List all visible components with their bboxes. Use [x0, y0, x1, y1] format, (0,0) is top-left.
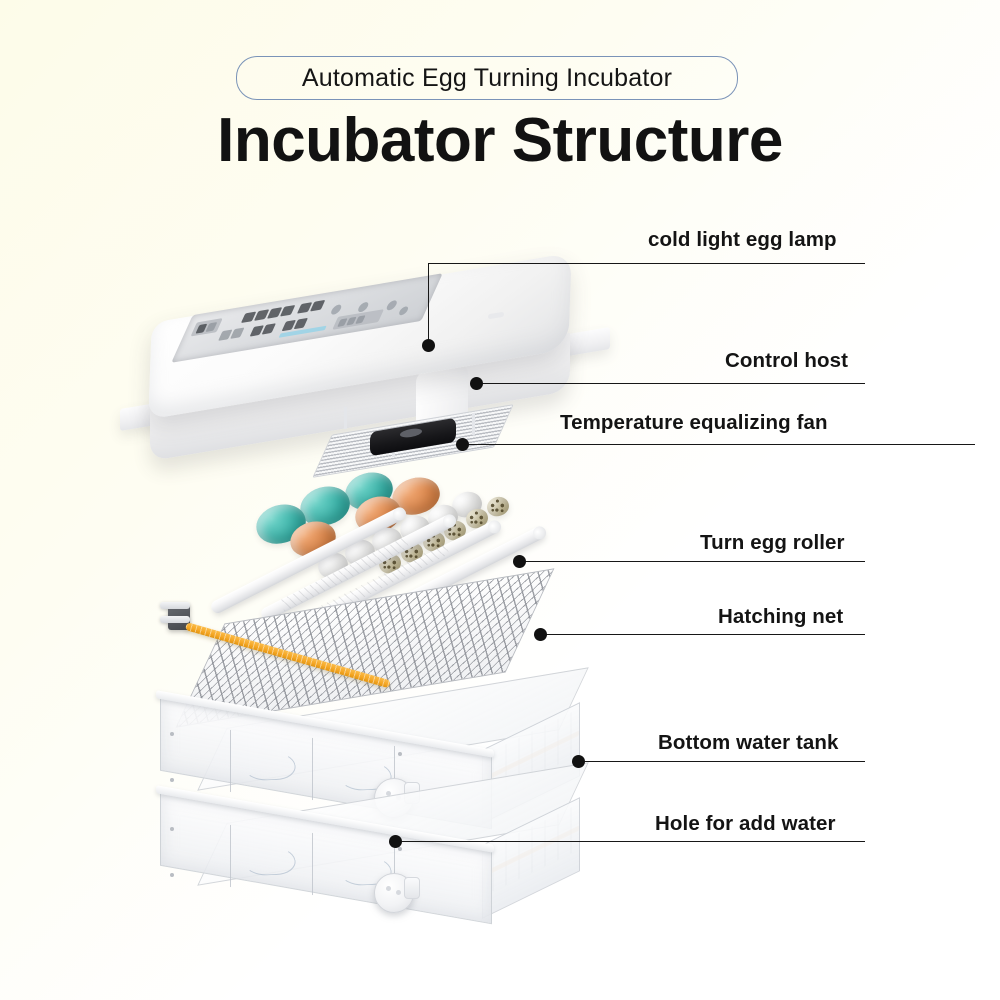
tank-screw: [398, 752, 402, 756]
callout-label-turn-egg-roller: Turn egg roller: [700, 531, 845, 555]
leader-line-horizontal: [519, 561, 865, 562]
panel-button[interactable]: [398, 306, 410, 316]
panel-button[interactable]: [385, 300, 398, 311]
leader-line-horizontal: [476, 383, 865, 384]
leader-line-horizontal: [578, 761, 865, 762]
leader-dot: [389, 835, 402, 848]
callout-label-bottom-water-tank: Bottom water tank: [658, 731, 839, 755]
water-fill-nub: [404, 877, 420, 899]
tank-divider: [312, 833, 313, 895]
panel-digit: [282, 320, 296, 331]
leader-line-vertical: [428, 263, 429, 345]
infographic-canvas: Automatic Egg Turning Incubator Incubato…: [0, 0, 1000, 1000]
leader-line-horizontal: [395, 841, 865, 842]
callout-label-hatching-net: Hatching net: [718, 605, 843, 629]
fan-leg: [472, 413, 475, 436]
panel-button[interactable]: [330, 304, 343, 315]
panel-digit: [241, 311, 256, 323]
callout-label-cold-light-egg-lamp: cold light egg lamp: [648, 228, 837, 252]
tank-screw: [398, 847, 402, 851]
page-title: Incubator Structure: [0, 105, 1000, 176]
leader-dot: [456, 438, 469, 451]
tank-divider: [230, 825, 231, 887]
callout-label-hole-for-add-water: Hole for add water: [655, 812, 836, 836]
leader-dot: [572, 755, 585, 768]
callout-label-control-host: Control host: [725, 349, 848, 373]
tank-divider: [230, 730, 231, 792]
tank-divider: [312, 738, 313, 800]
motor-shaft: [160, 616, 190, 623]
leader-dot: [470, 377, 483, 390]
egg-quail: [485, 494, 512, 519]
panel-digit: [250, 325, 264, 336]
leader-dot: [534, 628, 547, 641]
temperature-equalizing-fan-part: [322, 415, 512, 475]
leader-line-horizontal: [462, 444, 975, 445]
leader-dot: [422, 339, 435, 352]
motor-shaft: [160, 602, 190, 609]
leader-dot: [513, 555, 526, 568]
fan-leg: [344, 407, 347, 430]
panel-digit: [297, 302, 312, 314]
product-badge: Automatic Egg Turning Incubator: [236, 56, 738, 100]
callout-label-temperature-equalizing-fan: Temperature equalizing fan: [560, 411, 828, 435]
leader-line-horizontal: [428, 263, 865, 264]
tank-screw: [170, 827, 174, 831]
tank-screw: [170, 873, 174, 877]
tank-screw: [170, 732, 174, 736]
product-badge-label: Automatic Egg Turning Incubator: [302, 64, 672, 93]
leader-line-horizontal: [540, 634, 865, 635]
tank-screw: [170, 778, 174, 782]
